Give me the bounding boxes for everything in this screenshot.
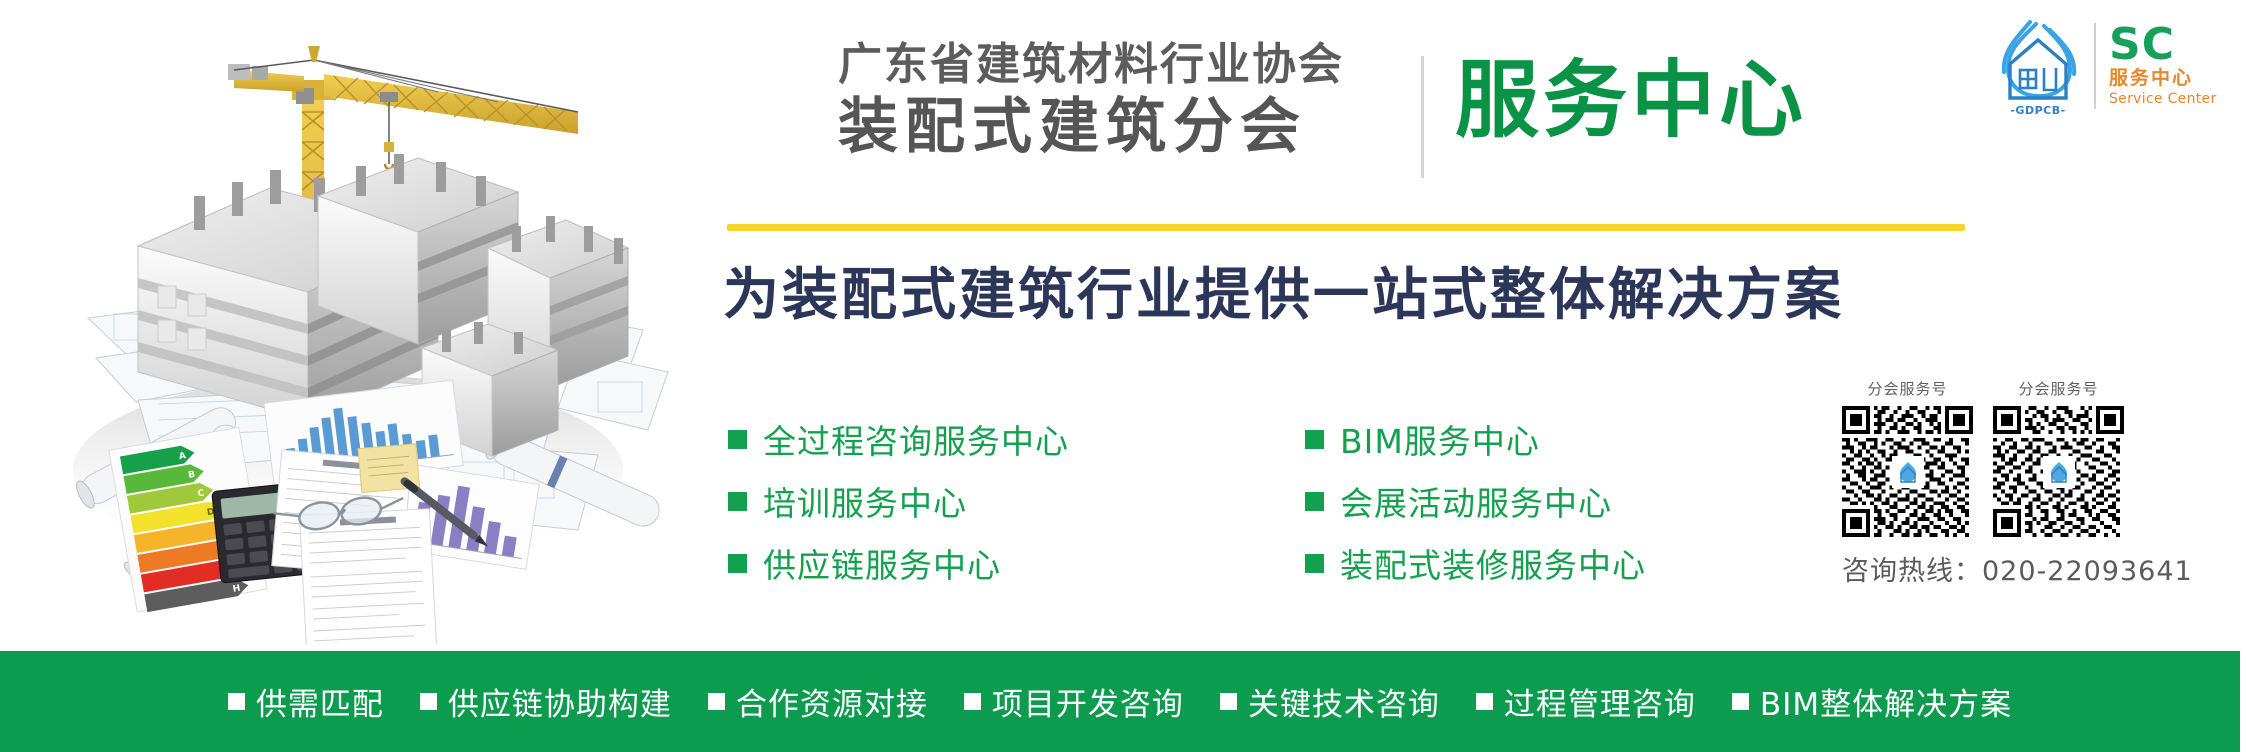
tagline: 为装配式建筑行业提供一站式整体解决方案 [723,250,1844,331]
qr-embedded-logo-icon [2043,456,2075,488]
logo-chinese-subtitle: 服务中心 [2109,67,2240,91]
square-bullet-icon [228,693,245,710]
association-name-line1: 广东省建筑材料行业协会 [838,40,1398,91]
square-bullet-icon [1220,693,1237,710]
banner-root: AB CD EF GH [0,0,2246,752]
square-bullet-icon [708,693,725,710]
logo-divider [2094,23,2096,109]
qr-embedded-logo-icon [1892,456,1924,488]
bottom-bar-item[interactable]: BIM整体解决方案 [1732,679,2012,724]
service-item-label: 供应链服务中心 [763,539,1001,587]
qr-caption: 分会服务号 [1993,378,2124,399]
logo-text-block: SC 服务中心 Service Center [2109,24,2240,108]
logo-english-subtitle: Service Center [2109,91,2240,109]
brand-logo: -GDPCB- SC 服务中心 Service Center [1990,14,2240,118]
bottom-bar-item[interactable]: 过程管理咨询 [1476,679,1696,724]
bottom-bar-item-label: 项目开发咨询 [992,679,1184,724]
service-item[interactable]: 供应链服务中心 [728,532,1069,594]
square-bullet-icon [728,430,747,449]
gdpcb-house-flame-icon: -GDPCB- [1990,16,2086,116]
square-bullet-icon [1476,693,1493,710]
bottom-bar-item-label: 过程管理咨询 [1504,679,1696,724]
service-item[interactable]: BIM服务中心 [1305,408,1646,470]
bottom-bar-item[interactable]: 关键技术咨询 [1220,679,1440,724]
qr-row: 分会服务号 [1842,378,2242,537]
service-item-label: 会展活动服务中心 [1340,477,1612,525]
bottom-bar-items: 供需匹配 供应链协助构建 合作资源对接 项目开发咨询 关键技术咨询 过程管理咨询 [210,679,2030,724]
bottom-bar-item[interactable]: 项目开发咨询 [964,679,1184,724]
qr-section: 分会服务号 [1842,378,2242,588]
qr-cell: 分会服务号 [1993,378,2124,537]
service-item[interactable]: 全过程咨询服务中心 [728,408,1069,470]
qr-caption: 分会服务号 [1842,378,1973,399]
gold-divider-rule [727,224,1965,231]
qr-cell: 分会服务号 [1842,378,1973,537]
service-item-label: 培训服务中心 [763,477,967,525]
service-item[interactable]: 装配式装修服务中心 [1305,532,1646,594]
bottom-bar-item-label: BIM整体解决方案 [1760,679,2012,724]
square-bullet-icon [1305,430,1324,449]
service-item-label: BIM服务中心 [1340,415,1540,463]
bottom-service-bar: 供需匹配 供应链协助构建 合作资源对接 项目开发咨询 关键技术咨询 过程管理咨询 [0,651,2240,752]
header-vertical-divider [1421,56,1424,178]
qr-code-image-2[interactable] [1993,406,2124,537]
square-bullet-icon [964,693,981,710]
service-item[interactable]: 会展活动服务中心 [1305,470,1646,532]
logo-sc-initials: SC [2109,24,2240,66]
bottom-bar-item[interactable]: 供应链协助构建 [420,679,672,724]
bottom-bar-item[interactable]: 供需匹配 [228,679,384,724]
service-item[interactable]: 培训服务中心 [728,470,1069,532]
square-bullet-icon [1732,693,1749,710]
logo-gdpcb-text: -GDPCB- [1990,104,2086,117]
bottom-bar-item[interactable]: 合作资源对接 [708,679,928,724]
square-bullet-icon [1305,492,1324,511]
service-center-title: 服务中心 [1455,50,1807,151]
service-list-right: BIM服务中心 会展活动服务中心 装配式装修服务中心 [1305,408,1646,594]
bottom-bar-item-label: 关键技术咨询 [1248,679,1440,724]
square-bullet-icon [1305,554,1324,573]
association-heading: 广东省建筑材料行业协会 装配式建筑分会 [838,40,1398,162]
service-list-left: 全过程咨询服务中心 培训服务中心 供应链服务中心 [728,408,1069,594]
service-item-label: 全过程咨询服务中心 [763,415,1069,463]
bottom-bar-item-label: 合作资源对接 [736,679,928,724]
bottom-bar-item-label: 供需匹配 [256,679,384,724]
square-bullet-icon [728,554,747,573]
square-bullet-icon [728,492,747,511]
square-bullet-icon [420,693,437,710]
association-name-line2: 装配式建筑分会 [838,93,1398,162]
construction-illustration: AB CD EF GH [18,0,678,645]
bottom-bar-item-label: 供应链协助构建 [448,679,672,724]
qr-code-image-1[interactable] [1842,406,1973,537]
hotline-text: 咨询热线：020-22093641 [1842,549,2242,588]
service-item-label: 装配式装修服务中心 [1340,539,1646,587]
